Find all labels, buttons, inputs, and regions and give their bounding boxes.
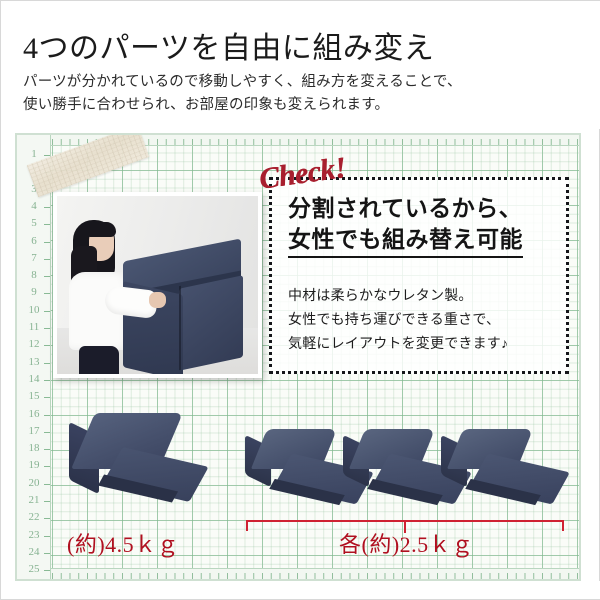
ruler-row-tick (44, 380, 50, 381)
header-section: 4つのパーツを自由に組み変え パーツが分かれているので移動しやすく、組み方を変え… (1, 1, 600, 129)
ruler-row-tick (44, 224, 50, 225)
ruler-row-tick (44, 363, 50, 364)
page-title: 4つのパーツを自由に組み変え (23, 23, 434, 67)
lead-line-1: パーツが分かれているので移動しやすく、組み方を変えることで、 (23, 71, 462, 94)
weight-label-small: 各(約)2.5ｋｇ (339, 527, 474, 559)
ruler-row-number: 7 (17, 252, 51, 264)
ruler-row-number: 9 (17, 286, 51, 298)
ruler-row-number: 12 (17, 338, 51, 350)
ruler-row-tick (44, 259, 50, 260)
ruler-row-number: 8 (17, 269, 51, 281)
ruler-row-number: 10 (17, 304, 51, 316)
ruler-left: 1234567891011121314151617181920212223242… (17, 135, 51, 579)
ruler-row-tick (44, 397, 50, 398)
ruler-row-tick (44, 484, 50, 485)
ruler-row-tick (44, 293, 50, 294)
ruler-row-number: 13 (17, 356, 51, 368)
ruler-row-tick (44, 432, 50, 433)
ruler-row-tick (44, 207, 50, 208)
ruler-row-number: 6 (17, 235, 51, 247)
ruler-row-number: 14 (17, 373, 51, 385)
ruler-row-tick (44, 345, 50, 346)
ruler-row-number: 11 (17, 321, 51, 333)
cushion-piece-large (61, 407, 211, 502)
ruler-row-tick (44, 276, 50, 277)
product-feature-page: 4つのパーツを自由に組み変え パーツが分かれているので移動しやすく、組み方を変え… (0, 0, 600, 600)
callout-heading-line-2: 女性でも組み替え可能 (288, 224, 523, 258)
lead-line-2: 使い勝手に合わせられ、お部屋の印象も変えられます。 (23, 94, 462, 117)
ruler-row-number: 21 (17, 494, 51, 506)
ruler-row-tick (44, 311, 50, 312)
ruler-row-tick (44, 415, 50, 416)
callout-heading: 分割されているから、 女性でも組み替え可能 (288, 193, 523, 258)
photo-woman-pants (79, 346, 119, 378)
ruler-row-number: 5 (17, 217, 51, 229)
ruler-row-number: 22 (17, 511, 51, 523)
ruler-row-tick (44, 501, 50, 502)
callout-body-line-3: 気軽にレイアウトを変更できます♪ (288, 331, 508, 355)
photo-cushion-seam (179, 286, 181, 370)
ruler-row-number: 24 (17, 546, 51, 558)
weight-label-large: (約)4.5ｋｇ (67, 527, 179, 559)
ruler-row-number: 19 (17, 459, 51, 471)
ruler-row-tick (44, 553, 50, 554)
ruler-row-tick (44, 328, 50, 329)
ruler-bottom (17, 568, 579, 579)
ruler-row-number: 17 (17, 425, 51, 437)
ruler-row-number: 23 (17, 529, 51, 541)
bottom-margin (1, 581, 600, 599)
lead-paragraph: パーツが分かれているので移動しやすく、組み方を変えることで、 使い勝手に合わせら… (23, 71, 462, 118)
lifestyle-photo (53, 192, 262, 378)
callout-heading-line-1: 分割されているから、 (288, 196, 522, 221)
ruler-row-number: 16 (17, 408, 51, 420)
ruler-bottom-ticks (17, 569, 579, 579)
ruler-row-number: 4 (17, 200, 51, 212)
cushion-piece-small-3 (435, 417, 575, 509)
callout-body-line-2: 女性でも持ち運びできる重さで、 (288, 307, 508, 331)
ruler-row-tick (44, 518, 50, 519)
ruler-row-number: 18 (17, 442, 51, 454)
ruler-row-tick (44, 466, 50, 467)
ruler-row-tick (44, 570, 50, 571)
ruler-row-tick (44, 242, 50, 243)
ruler-row-tick (44, 449, 50, 450)
photo-woman-hand (149, 292, 166, 308)
photo-woman-fringe (86, 222, 116, 237)
photo-cushion-right (179, 275, 243, 371)
ruler-row-tick (44, 536, 50, 537)
callout-body-line-1: 中材は柔らかなウレタン製。 (288, 283, 508, 307)
callout-body: 中材は柔らかなウレタン製。 女性でも持ち運びできる重さで、 気軽にレイアウトを変… (288, 283, 508, 355)
ruler-row-number: 25 (17, 563, 51, 575)
ruler-row-number: 20 (17, 477, 51, 489)
callout-box: 分割されているから、 女性でも組み替え可能 中材は柔らかなウレタン製。 女性でも… (269, 177, 569, 374)
ruler-row-number: 15 (17, 390, 51, 402)
